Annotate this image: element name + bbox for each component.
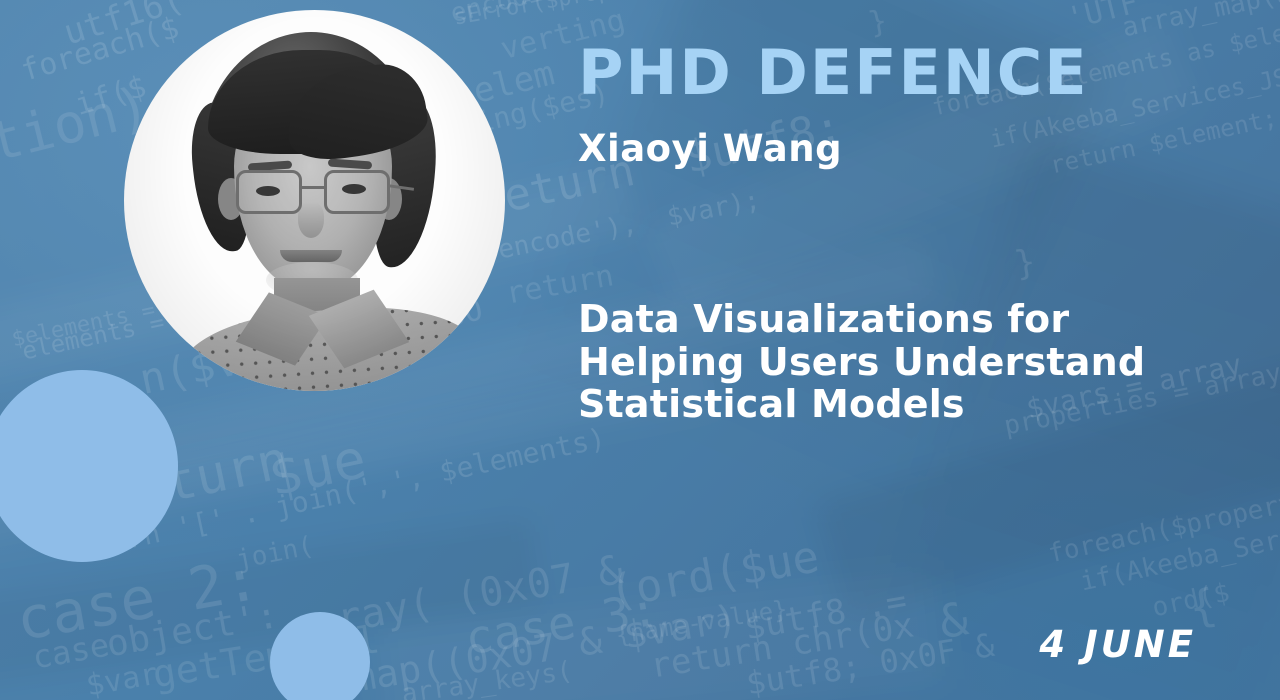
decorative-circle-large	[0, 370, 178, 562]
portrait-vignette	[124, 10, 505, 391]
presenter-name: Xiaoyi Wang	[578, 129, 842, 170]
code-fragment: object':	[104, 598, 281, 664]
poster-kicker: PHD DEFENCE	[578, 42, 1089, 104]
thesis-title: Data Visualizations for Helping Users Un…	[578, 298, 1238, 426]
portrait-illustration	[124, 10, 505, 391]
code-fragment: array_keys(	[400, 658, 574, 700]
event-date: 4 JUNE	[1039, 623, 1196, 666]
code-fragment: $var	[84, 659, 160, 700]
presenter-portrait	[124, 10, 505, 391]
code-fragment: $ue	[264, 432, 371, 505]
code-fragment: join(	[234, 533, 316, 573]
poster-text-block: PHD DEFENCE Xiaoyi Wang Data Visualizati…	[578, 0, 1238, 700]
code-fragment: case	[30, 629, 111, 674]
decorative-circle-small	[270, 612, 370, 700]
phd-defence-poster: utf16(foreach($if($tion)encoding('sError…	[0, 0, 1280, 700]
code-fragment: case 2:	[12, 550, 263, 650]
code-fragment: turn	[160, 434, 293, 511]
